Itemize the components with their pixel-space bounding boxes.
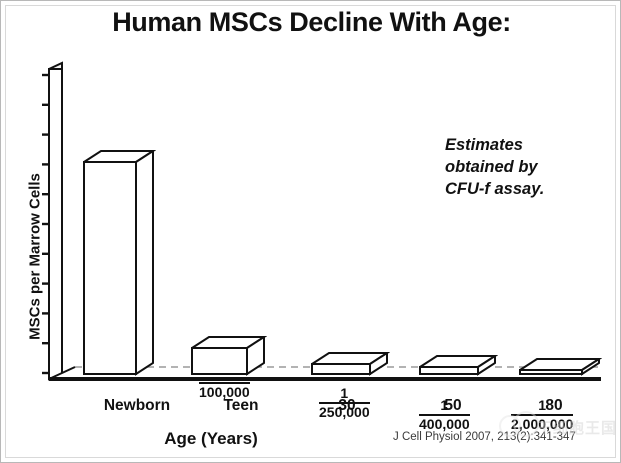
bar-front-face [192, 348, 247, 374]
x-tick-newborn: Newborn [87, 397, 187, 415]
bar-80[interactable] [519, 358, 602, 377]
bar-50[interactable] [419, 355, 498, 377]
x-tick-teen: Teen [191, 397, 291, 415]
bar-front-face [84, 162, 136, 374]
slide-canvas: Human MSCs Decline With Age: Estimates o… [0, 0, 621, 463]
x-tick-50: 50 [403, 397, 503, 415]
citation-text: J Cell Physiol 2007, 213(2):341-347 [393, 431, 576, 443]
x-tick-80: 80 [504, 397, 604, 415]
bar-front-face [312, 364, 370, 374]
bar-front-face [520, 370, 582, 374]
x-axis-label: Age (Years) [1, 429, 421, 449]
bar-newborn[interactable] [83, 150, 156, 377]
bar-front-face [420, 367, 478, 374]
page-title: Human MSCs Decline With Age: [1, 7, 621, 38]
bar-teen[interactable] [191, 336, 267, 377]
bar-side-face [136, 151, 153, 374]
y-axis-front-face [49, 69, 62, 379]
fraction-denominator: 2,000,000 [511, 414, 573, 432]
fraction-denominator: 400,000 [419, 414, 470, 432]
bar-30[interactable] [311, 352, 390, 377]
x-tick-30: 30 [297, 397, 397, 415]
chart-plot-area: 110,0001100,0001250,0001400,00012,000,00… [41, 61, 601, 391]
